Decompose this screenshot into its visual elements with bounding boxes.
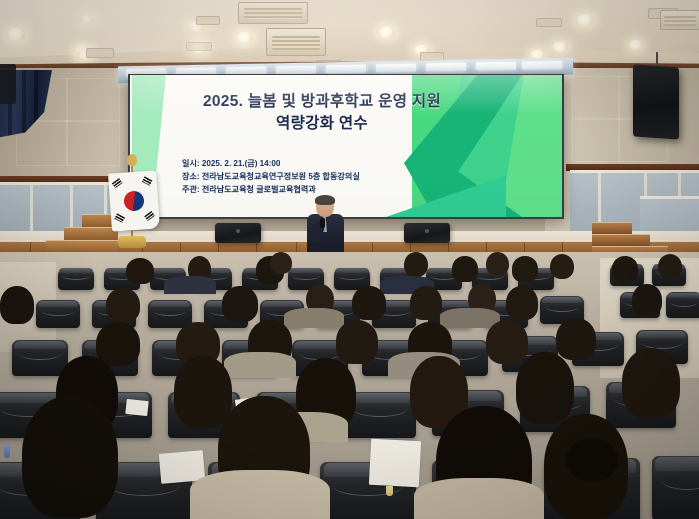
attendee-hair bbox=[632, 284, 662, 316]
seat-headrest bbox=[289, 268, 322, 273]
presenter-hair bbox=[315, 195, 335, 205]
slide-meta-organizer: 주관: 전라남도교육청 글로벌교육협력과 bbox=[182, 183, 482, 196]
seat-headrest bbox=[638, 331, 686, 338]
downlight bbox=[628, 40, 643, 50]
trigram bbox=[114, 213, 125, 223]
stage-monitor-speaker bbox=[404, 223, 450, 243]
stage-monitor-speaker bbox=[215, 223, 261, 243]
speaker-chain bbox=[656, 52, 658, 66]
attendee-shoulders bbox=[164, 276, 216, 294]
attendee-head bbox=[658, 254, 682, 279]
attendee-hair bbox=[22, 396, 118, 518]
ceiling-panel bbox=[86, 48, 114, 58]
attendee-hair bbox=[452, 256, 478, 282]
light-tube bbox=[376, 64, 416, 73]
attendee-hair bbox=[516, 352, 574, 424]
auditorium-photo: 2025. 늘봄 및 방과후학교 운영 지원 역량강화 연수 일시: 2025.… bbox=[0, 0, 699, 519]
taeguk-symbol bbox=[120, 187, 148, 215]
flag-finial bbox=[127, 154, 137, 166]
attendee-shoulders bbox=[414, 478, 544, 519]
slide-title-line-2: 역량강화 연수 bbox=[152, 113, 492, 135]
air-conditioner-vent bbox=[660, 10, 699, 30]
light-tube bbox=[326, 65, 366, 74]
attendee-hair bbox=[410, 286, 442, 320]
attendee-head bbox=[550, 254, 574, 279]
wall-tile bbox=[572, 118, 620, 162]
attendee-head bbox=[270, 252, 292, 274]
downlight bbox=[576, 14, 594, 26]
ceiling-panel bbox=[186, 42, 212, 51]
attendee-head bbox=[486, 252, 509, 276]
seat-headrest bbox=[59, 268, 92, 273]
seat bbox=[148, 300, 192, 328]
downlight bbox=[6, 28, 26, 41]
seat-headrest bbox=[667, 293, 699, 299]
air-conditioner-vent bbox=[238, 2, 308, 24]
attendee-hair bbox=[512, 256, 538, 282]
attendee-hair bbox=[336, 320, 378, 364]
slide-title: 2025. 늘봄 및 방과후학교 운영 지원 역량강화 연수 bbox=[152, 91, 492, 136]
seat bbox=[12, 340, 68, 376]
attendee-hair bbox=[486, 320, 528, 364]
attendee-hair bbox=[506, 286, 538, 320]
handout-paper bbox=[369, 439, 421, 488]
downlight bbox=[236, 32, 253, 43]
air-conditioner-vent bbox=[266, 28, 326, 56]
light-tube bbox=[476, 62, 516, 71]
curtain-fold bbox=[22, 70, 26, 138]
seat-headrest bbox=[151, 268, 184, 273]
downlight bbox=[552, 42, 568, 52]
light-tube bbox=[522, 61, 562, 70]
attendee-hair bbox=[174, 356, 232, 428]
wall-tile bbox=[572, 76, 620, 120]
attendee-hair bbox=[126, 258, 154, 284]
ceiling-panel bbox=[536, 18, 562, 27]
seat bbox=[666, 292, 699, 318]
water-bottle bbox=[4, 444, 10, 458]
korean-flag bbox=[104, 158, 160, 250]
attendee-hair bbox=[106, 288, 140, 322]
slide-title-line-1: 2025. 늘봄 및 방과후학교 운영 지원 bbox=[203, 93, 441, 110]
trigram bbox=[142, 176, 153, 186]
flag-cloth bbox=[108, 170, 160, 231]
seat-headrest bbox=[262, 301, 303, 307]
attendee-head bbox=[404, 252, 428, 277]
downlight bbox=[378, 27, 395, 38]
attendee-hair bbox=[0, 286, 34, 324]
seat-headrest bbox=[542, 297, 583, 303]
ceiling-panel bbox=[196, 16, 220, 25]
handout-paper bbox=[125, 399, 148, 416]
left-wall-speaker bbox=[0, 64, 16, 104]
attendee-shoulders bbox=[440, 308, 500, 328]
attendee-hair bbox=[352, 286, 386, 320]
slide-meta-location: 장소: 전라남도교육청교육연구정보원 5층 합동강의실 bbox=[182, 170, 482, 183]
attendee-shoulders bbox=[190, 470, 330, 519]
seat-headrest bbox=[347, 393, 413, 403]
attendee-hair bbox=[222, 286, 258, 322]
paper-cup bbox=[386, 486, 393, 496]
trigram bbox=[144, 211, 155, 221]
attendee-hair bbox=[96, 322, 140, 366]
seat bbox=[36, 300, 80, 328]
attendee-hair bbox=[622, 348, 680, 418]
flag-stand-base bbox=[118, 236, 146, 248]
wall-tile bbox=[66, 78, 120, 122]
slide-meta-block: 일시: 2025. 2. 21.(금) 14:00 장소: 전라남도교육청교육연… bbox=[182, 157, 482, 196]
light-tube bbox=[426, 63, 466, 72]
presenter bbox=[303, 196, 347, 254]
seat-headrest bbox=[150, 301, 191, 307]
attendee-shoulders bbox=[224, 352, 296, 378]
seat bbox=[58, 268, 94, 290]
slide-meta-datetime: 일시: 2025. 2. 21.(금) 14:00 bbox=[182, 157, 482, 170]
attendee-hair bbox=[612, 256, 638, 282]
microphone bbox=[320, 218, 325, 228]
attendee-hair-bun bbox=[566, 438, 618, 482]
seat bbox=[652, 456, 699, 519]
seat-headrest bbox=[38, 301, 79, 307]
ceiling-speaker bbox=[633, 64, 679, 139]
attendee-shoulders bbox=[284, 308, 344, 328]
speaker-driver bbox=[425, 229, 429, 233]
seat-headrest bbox=[335, 268, 368, 273]
trigram bbox=[112, 178, 123, 188]
seat-headrest bbox=[655, 457, 699, 471]
seat-headrest bbox=[14, 341, 66, 349]
downlight bbox=[80, 15, 94, 24]
attendee-hair bbox=[556, 318, 596, 360]
speaker-driver bbox=[236, 229, 240, 233]
